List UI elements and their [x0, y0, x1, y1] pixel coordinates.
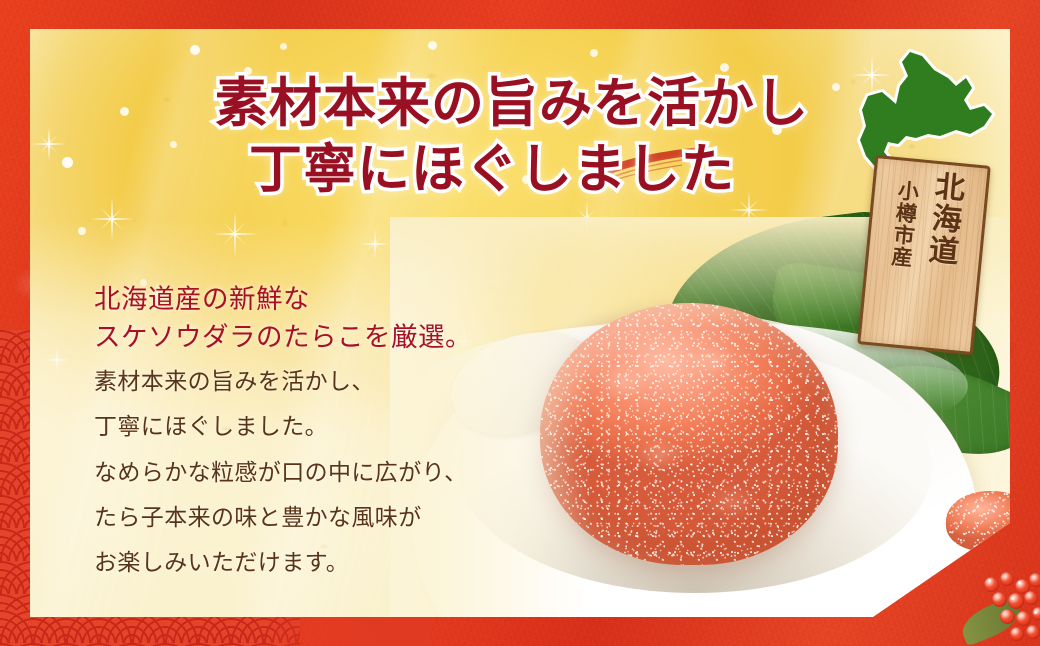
bokeh-dot — [360, 181, 367, 188]
bokeh-dot — [832, 83, 840, 91]
bokeh-dot — [190, 45, 200, 55]
ikura-egg — [1026, 625, 1040, 639]
bokeh-dot — [170, 141, 177, 148]
ikura-egg — [984, 577, 999, 592]
ikura-highlight — [1034, 611, 1037, 614]
body-copy-line-2: 丁寧にほぐしました。 — [94, 408, 472, 446]
ikura-egg — [1000, 609, 1015, 624]
bokeh-dot — [280, 43, 287, 50]
bokeh-dot — [772, 125, 782, 135]
seigaiha-wave-pattern-icon-left — [0, 330, 34, 646]
ikura-egg — [1008, 593, 1024, 609]
bokeh-dot — [590, 49, 598, 57]
sign-text: 北海道 小樽市産 — [857, 155, 991, 355]
ikura-egg — [992, 592, 1007, 607]
sparkle-star-icon — [90, 197, 134, 241]
bokeh-dot — [522, 175, 531, 184]
lead-copy-line-2: スケソウダラのたらこを厳選。 — [94, 319, 472, 357]
sparkle-star-icon — [44, 347, 70, 373]
body-copy-line-3: なめらかな粒感が口の中に広がり、 — [94, 454, 472, 492]
bokeh-dot — [244, 67, 252, 75]
tarako-granular-texture — [540, 303, 838, 565]
sparkle-star-icon — [212, 211, 258, 257]
lead-copy-line-1: 北海道産の新鮮な — [94, 281, 472, 319]
bokeh-dot — [720, 63, 729, 72]
body-copy-line-1: 素材本来の旨みを活かし、 — [94, 363, 472, 401]
ikura-highlight — [988, 579, 991, 582]
ikura-egg — [1029, 573, 1040, 587]
sparkle-star-icon — [32, 127, 66, 161]
salmon-roe-cluster-icon — [954, 546, 1040, 646]
bokeh-dot — [78, 227, 86, 235]
ikura-egg — [1024, 591, 1038, 605]
bokeh-dot — [428, 41, 437, 50]
bokeh-dot — [690, 159, 698, 167]
ikura-egg — [1000, 572, 1014, 586]
description-block: 北海道産の新鮮な スケソウダラのたらこを厳選。 素材本来の旨みを活かし、 丁寧に… — [94, 281, 472, 582]
sparkle-star-icon — [360, 229, 390, 259]
tarako-cod-roe-icon — [540, 303, 838, 565]
body-copy-line-5: お楽しみいただけます。 — [94, 544, 472, 582]
ikura-highlight — [1011, 597, 1014, 600]
sign-prefecture: 北海道 — [917, 169, 970, 269]
banner-root: 素材本来の旨みを活かし 丁寧にほぐしました 北海道産の新鮮な スケソウダラのたら… — [0, 0, 1040, 646]
bokeh-dot — [120, 107, 129, 116]
body-copy-line-4: たら子本来の味と豊かな風味が — [94, 499, 472, 537]
ikura-egg — [1016, 611, 1031, 626]
wooden-origin-sign-icon: 北海道 小樽市産 — [857, 155, 991, 355]
ikura-highlight — [1018, 581, 1021, 584]
ikura-egg — [1010, 627, 1024, 641]
